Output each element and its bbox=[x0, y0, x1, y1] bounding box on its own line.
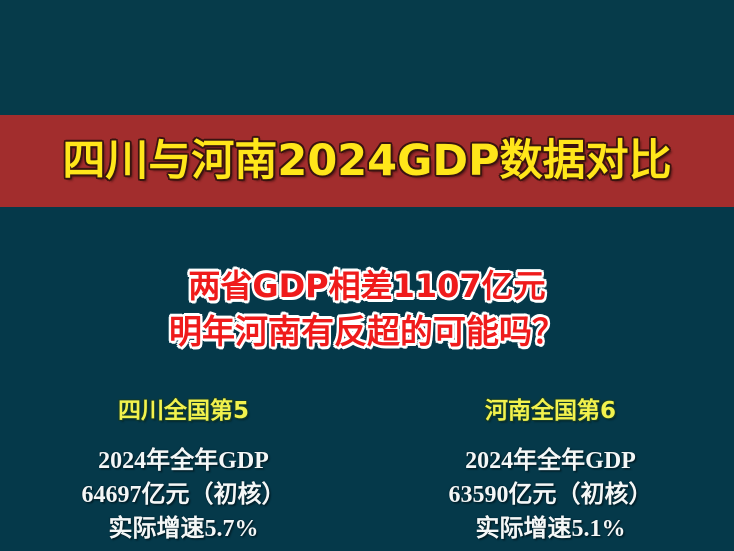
comparison-column-henan: 河南全国第6 2024年全年GDP 63590亿元（初核） 实际增速5.1% bbox=[367, 396, 734, 546]
column-heading-henan: 河南全国第6 bbox=[367, 396, 734, 426]
column-lines-henan: 2024年全年GDP 63590亿元（初核） 实际增速5.1% bbox=[367, 444, 734, 546]
top-spacer bbox=[0, 0, 734, 115]
page-title: 四川与河南2024GDP数据对比 bbox=[62, 140, 671, 183]
henan-growth-rate: 实际增速5.1% bbox=[367, 512, 734, 546]
sichuan-gdp-value: 64697亿元（初核） bbox=[0, 478, 367, 512]
sichuan-growth-rate: 实际增速5.7% bbox=[0, 512, 367, 546]
column-heading-sichuan: 四川全国第5 bbox=[0, 396, 367, 426]
subtitle-line-2: 明年河南有反超的可能吗？ bbox=[0, 309, 734, 355]
sichuan-gdp-label: 2024年全年GDP bbox=[0, 444, 367, 478]
column-lines-sichuan: 2024年全年GDP 64697亿元（初核） 实际增速5.7% bbox=[0, 444, 367, 546]
comparison-column-sichuan: 四川全国第5 2024年全年GDP 64697亿元（初核） 实际增速5.7% bbox=[0, 396, 367, 546]
title-banner: 四川与河南2024GDP数据对比 bbox=[0, 115, 734, 207]
comparison-section: 四川全国第5 2024年全年GDP 64697亿元（初核） 实际增速5.7% 河… bbox=[0, 396, 734, 546]
subtitle-block: 两省GDP相差1107亿元 明年河南有反超的可能吗？ bbox=[0, 263, 734, 355]
gdp-comparison-poster: 四川与河南2024GDP数据对比 两省GDP相差1107亿元 明年河南有反超的可… bbox=[0, 0, 734, 551]
subtitle-line-1: 两省GDP相差1107亿元 bbox=[0, 263, 734, 309]
henan-gdp-label: 2024年全年GDP bbox=[367, 444, 734, 478]
henan-gdp-value: 63590亿元（初核） bbox=[367, 478, 734, 512]
